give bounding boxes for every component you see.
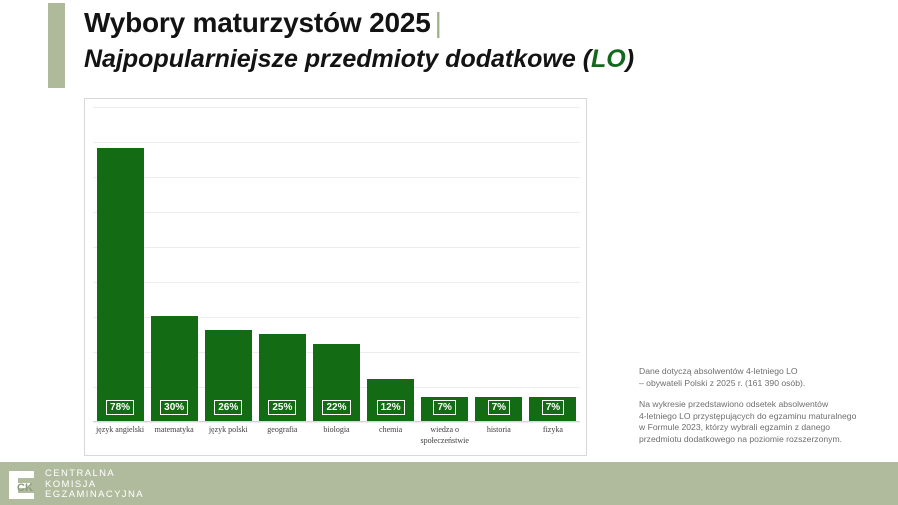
title-accent-bar <box>48 3 65 88</box>
bar-value-label: 26% <box>214 400 242 415</box>
bar-value-label: 25% <box>268 400 296 415</box>
bar-chart: 78%30%26%25%22%12%7%7%7% język angielski… <box>84 98 587 456</box>
category-label: język angielski <box>93 424 147 435</box>
annotation-p2-l3: w Formule 2023, którzy wybrali egzamin z… <box>639 422 889 434</box>
chart-bar[interactable]: 26% <box>205 330 252 421</box>
title-divider: | <box>431 6 442 40</box>
gridline <box>93 422 580 423</box>
category-label-line: język polski <box>201 424 255 435</box>
bar-slot: 7% <box>475 397 522 422</box>
chart-bar[interactable]: 25% <box>259 334 306 422</box>
chart-bar[interactable]: 7% <box>421 397 468 422</box>
bar-slot: 26% <box>205 330 252 421</box>
category-label: biologia <box>309 424 363 435</box>
annotation-p2-l2: 4-letniego LO przystępujących do egzamin… <box>639 411 889 423</box>
chart-bar[interactable]: 22% <box>313 344 360 421</box>
bar-value-label: 30% <box>160 400 188 415</box>
chart-bar[interactable]: 7% <box>475 397 522 422</box>
category-label: geografia <box>255 424 309 435</box>
category-label: matematyka <box>147 424 201 435</box>
bar-value-label: 7% <box>488 400 510 415</box>
annotation-p1-l2: – obywateli Polski z 2025 r. (161 390 os… <box>639 378 889 390</box>
annotation-p2-l4: przedmiotu dodatkowego na poziomie rozsz… <box>639 434 889 446</box>
chart-bar[interactable]: 7% <box>529 397 576 422</box>
cke-logo-text: CENTRALNA KOMISJA EGZAMINACYJNA <box>45 469 144 501</box>
chart-category-axis: język angielskimatematykajęzyk polskigeo… <box>85 424 588 456</box>
category-label-line: geografia <box>255 424 309 435</box>
bar-slot: 12% <box>367 379 414 421</box>
bar-slot: 30% <box>151 316 198 421</box>
bar-value-label: 7% <box>433 400 455 415</box>
title-subtitle-highlight: LO <box>591 45 626 73</box>
svg-text:CK: CK <box>17 482 33 494</box>
category-label: fizyka <box>526 424 580 435</box>
category-label-line: historia <box>472 424 526 435</box>
title-main-text: Wybory maturzystów 2025 <box>84 7 431 38</box>
bar-slot: 25% <box>259 334 306 422</box>
logo-line-1: CENTRALNA <box>45 469 144 480</box>
bar-value-label: 12% <box>377 400 405 415</box>
category-label: historia <box>472 424 526 435</box>
chart-plot-area: 78%30%26%25%22%12%7%7%7% <box>85 107 588 422</box>
chart-bars: 78%30%26%25%22%12%7%7%7% <box>85 107 588 422</box>
annotation-p2-l1: Na wykresie przedstawiono odsetek absolw… <box>639 399 889 411</box>
category-label-line: język angielski <box>93 424 147 435</box>
bar-slot: 7% <box>421 397 468 422</box>
category-label-line: chemia <box>364 424 418 435</box>
category-label-line: fizyka <box>526 424 580 435</box>
bar-value-label: 7% <box>542 400 564 415</box>
bar-slot: 7% <box>529 397 576 422</box>
bar-slot: 22% <box>313 344 360 421</box>
cke-logo: CK CENTRALNA KOMISJA EGZAMINACYJNA <box>8 469 144 501</box>
annotation-p1-l1: Dane dotyczą absolwentów 4-letniego LO <box>639 366 889 378</box>
title-subtitle-prefix: Najpopularniejsze przedmioty dodatkowe ( <box>84 45 591 73</box>
chart-bar[interactable]: 12% <box>367 379 414 421</box>
footer-band: CK CENTRALNA KOMISJA EGZAMINACYJNA <box>0 462 898 505</box>
bar-value-label: 22% <box>322 400 350 415</box>
category-label-line: wiedza o <box>418 424 472 435</box>
bar-slot: 78% <box>97 148 144 421</box>
chart-bar[interactable]: 30% <box>151 316 198 421</box>
category-label-line: społeczeństwie <box>418 435 472 446</box>
category-label-line: biologia <box>309 424 363 435</box>
cke-logo-mark-icon: CK <box>8 470 35 500</box>
title-line-primary: Wybory maturzystów 2025| <box>84 6 774 40</box>
title-subtitle-suffix: ) <box>626 45 634 73</box>
logo-line-3: EGZAMINACYJNA <box>45 490 144 501</box>
category-label: wiedza ospołeczeństwie <box>418 424 472 446</box>
category-label-line: matematyka <box>147 424 201 435</box>
slide-root: Wybory maturzystów 2025| Najpopularniejs… <box>0 0 898 505</box>
chart-bar[interactable]: 78% <box>97 148 144 421</box>
bar-value-label: 78% <box>106 400 134 415</box>
page-title: Wybory maturzystów 2025| Najpopularniejs… <box>84 6 774 76</box>
category-label: chemia <box>364 424 418 435</box>
title-line-secondary: Najpopularniejsze przedmioty dodatkowe (… <box>84 42 774 76</box>
category-label: język polski <box>201 424 255 435</box>
chart-annotation: Dane dotyczą absolwentów 4-letniego LO –… <box>639 366 889 446</box>
